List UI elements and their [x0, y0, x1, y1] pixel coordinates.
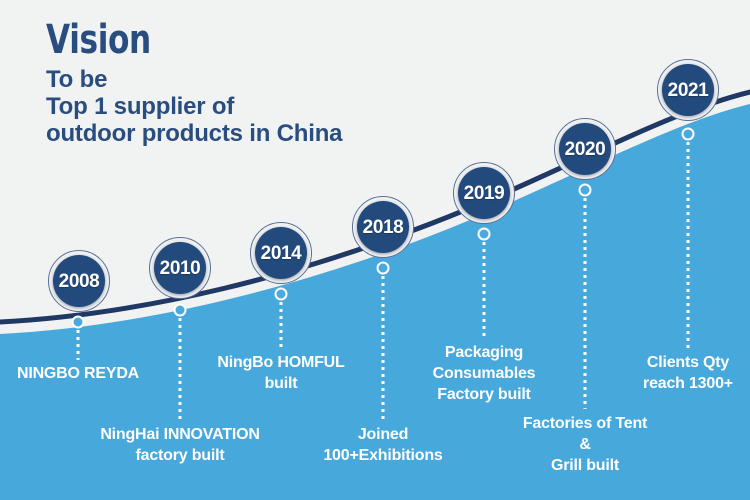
- infographic-canvas: Vision To be Top 1 supplier of outdoor p…: [0, 0, 750, 500]
- curve-dot-2010: [174, 304, 187, 317]
- curve-dot-2014: [275, 288, 288, 301]
- year-disc: 2020: [559, 123, 611, 175]
- year-node-2019[interactable]: 2019: [453, 162, 515, 224]
- event-label-2018: Joined 100+Exhibitions: [268, 424, 498, 466]
- year-label: 2010: [160, 259, 201, 278]
- page-title: Vision: [46, 20, 277, 60]
- connector-line-2014: [280, 302, 283, 348]
- event-label-2014: NingBo HOMFUL built: [166, 352, 396, 394]
- curve-dot-2018: [377, 262, 390, 275]
- page-subtitle: To be Top 1 supplier of outdoor products…: [46, 66, 342, 147]
- heading-block: Vision To be Top 1 supplier of outdoor p…: [46, 20, 342, 147]
- event-label-2010: NingHai INNOVATION factory built: [65, 424, 295, 466]
- year-node-2008[interactable]: 2008: [48, 250, 110, 312]
- year-disc: 2018: [357, 201, 409, 253]
- year-label: 2014: [261, 244, 302, 263]
- year-node-2014[interactable]: 2014: [250, 222, 312, 284]
- event-label-2021: Clients Qty reach 1300+: [573, 352, 750, 394]
- year-node-2010[interactable]: 2010: [149, 237, 211, 299]
- event-label-2008: NINGBO REYDA: [0, 363, 193, 384]
- year-node-2018[interactable]: 2018: [352, 196, 414, 258]
- year-label: 2018: [363, 218, 404, 237]
- year-disc: 2008: [53, 255, 105, 307]
- event-label-2019: Packaging Consumables Factory built: [369, 342, 599, 405]
- connector-line-2021: [687, 142, 690, 348]
- year-disc: 2010: [154, 242, 206, 294]
- curve-dot-2021: [682, 128, 695, 141]
- year-disc: 2014: [255, 227, 307, 279]
- year-disc: 2021: [662, 64, 714, 116]
- year-label: 2019: [464, 184, 505, 203]
- year-label: 2020: [565, 140, 606, 159]
- connector-line-2019: [483, 242, 486, 338]
- year-node-2020[interactable]: 2020: [554, 118, 616, 180]
- curve-dot-2019: [478, 228, 491, 241]
- curve-dot-2008: [72, 316, 85, 329]
- curve-dot-2020: [579, 184, 592, 197]
- connector-line-2008: [77, 330, 80, 360]
- event-label-2020: Factories of Tent & Grill built: [470, 413, 700, 476]
- year-disc: 2019: [458, 167, 510, 219]
- year-label: 2021: [668, 81, 709, 100]
- year-label: 2008: [59, 272, 100, 291]
- year-node-2021[interactable]: 2021: [657, 59, 719, 121]
